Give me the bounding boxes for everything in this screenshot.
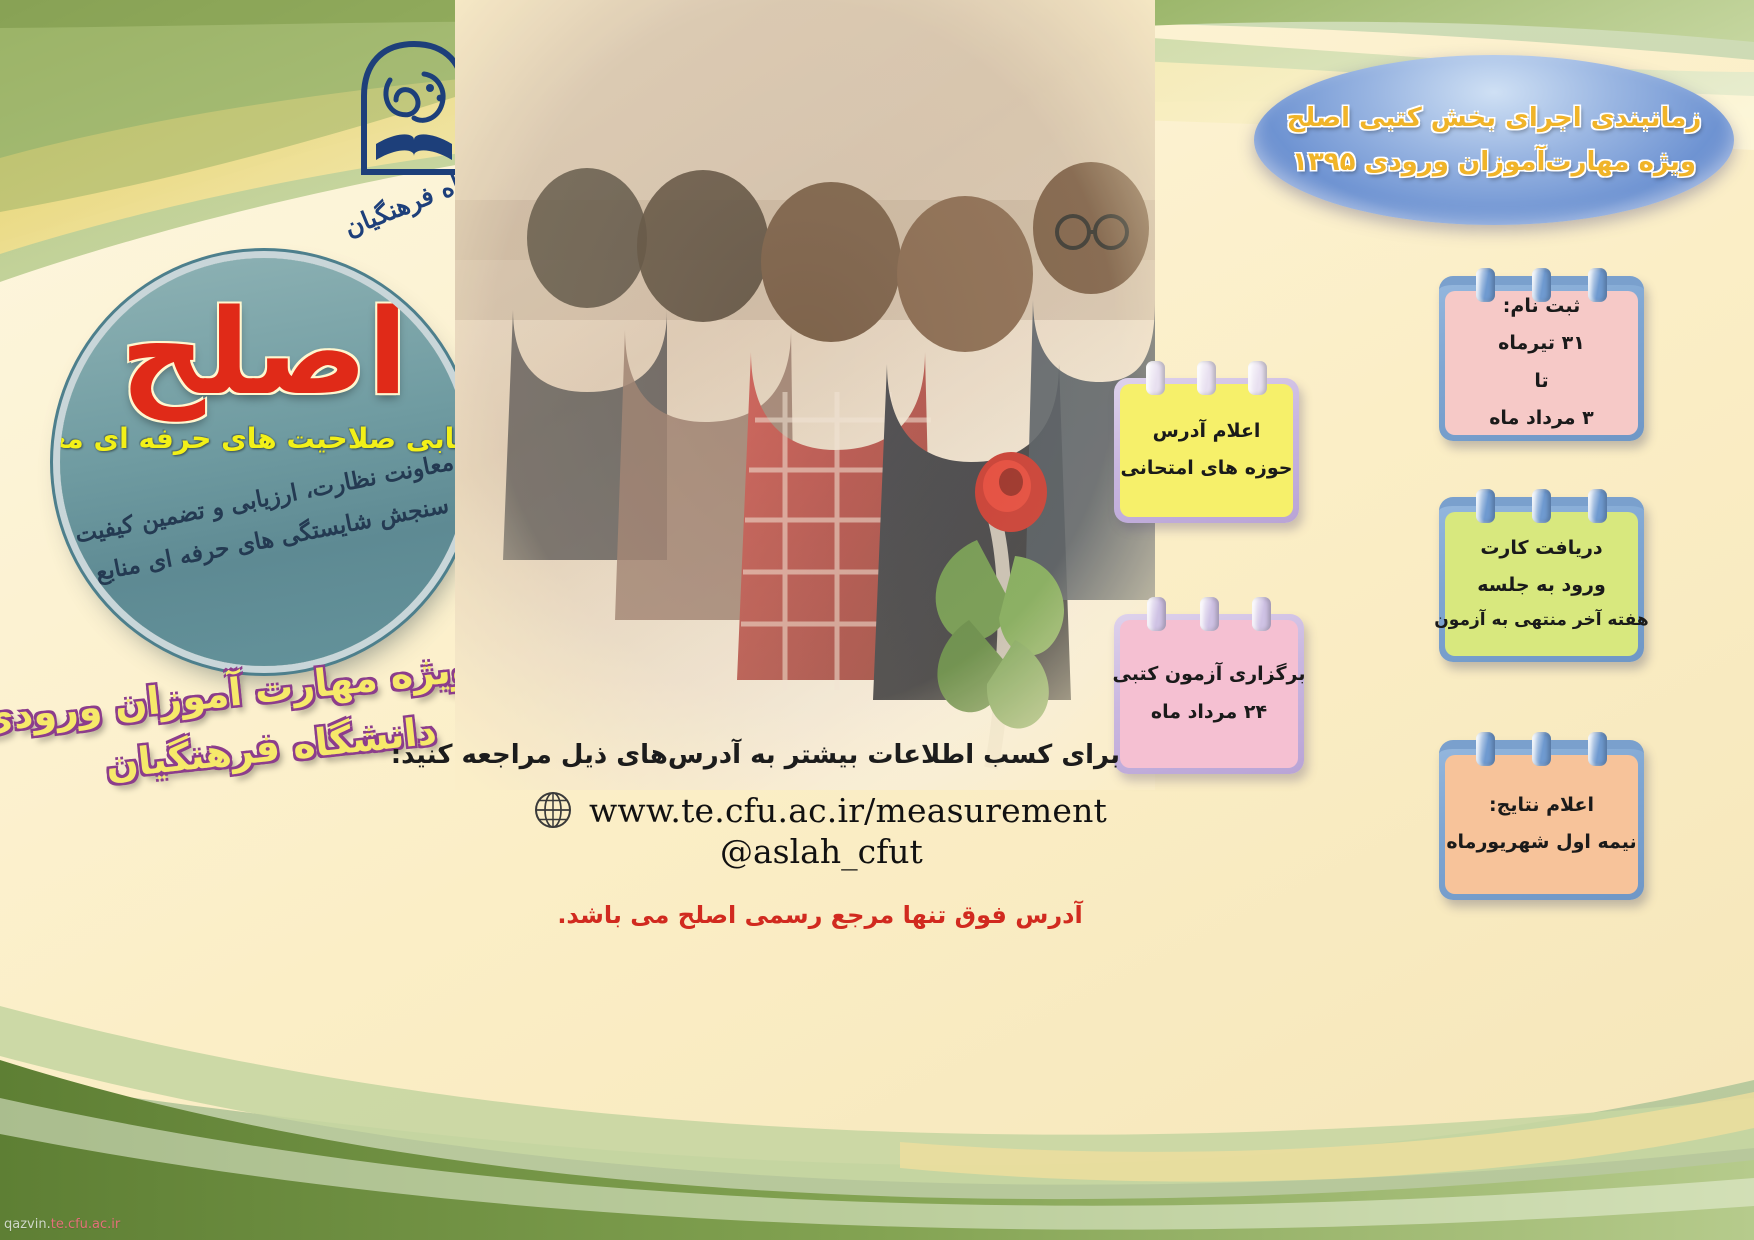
official-reference-note: آدرس فوق تنها مرجع رسمی اصلح می باشد. — [520, 901, 1120, 929]
calendar-line: دریافت کارت — [1480, 530, 1602, 567]
calendar-page: دریافت کارت ورود به جلسه هفته آخر منتهی … — [1445, 512, 1638, 656]
schedule-banner: زمانبندی اجرای بخش کتبی اصلح ویژه مهارت‌… — [1254, 55, 1734, 225]
site-watermark: qazvin.te.cfu.ac.ir — [4, 1217, 120, 1232]
calendar-line: هفته آخر منتهی به آزمون — [1434, 604, 1648, 637]
banner-line-2: ویژه مهارت‌آموزان ورودی ۱۳۹۵ — [1292, 147, 1696, 177]
calendar-line: تا — [1534, 363, 1548, 400]
calendar-line: اعلام نتایج: — [1489, 787, 1594, 824]
banner-line-1: زمانبندی اجرای بخش کتبی اصلح — [1287, 103, 1702, 133]
calendar-page: ثبت نام: ۳۱ تیرماه تا ۳ مرداد ماه — [1445, 291, 1638, 435]
calendar-line: ۳۱ تیرماه — [1498, 325, 1585, 362]
calendar-line: ثبت نام: — [1503, 288, 1580, 325]
website-url[interactable]: www.te.cfu.ac.ir/measurement — [589, 791, 1107, 830]
social-handle[interactable]: @aslah_cfut — [720, 832, 1120, 871]
calendar-line: ورود به جلسه — [1477, 567, 1606, 604]
watermark-prefix: qazvin. — [4, 1217, 51, 1232]
calendar-line: اعلام آدرس — [1153, 413, 1261, 450]
calendar-line: برگزاری آزمون کتبی — [1112, 656, 1305, 693]
calendar-line: نیمه اول شهریورماه — [1446, 824, 1636, 861]
contact-lead-text: برای کسب اطلاعات بیشتر به آدرس‌های ذیل م… — [520, 740, 1120, 770]
contact-url-row[interactable]: www.te.cfu.ac.ir/measurement — [520, 790, 1120, 830]
poster-canvas: دانشگاه فرهنگیان اصلح ارزشیابی صلاحیت ها… — [0, 0, 1754, 1240]
aslah-badge: اصلح ارزشیابی صلاحیت های حرفه ای معلمی م… — [60, 258, 468, 666]
calendar-line: ۳ مرداد ماه — [1489, 400, 1594, 437]
calendar-card-exam-venue-address: اعلام آدرس حوزه های امتحانی — [1114, 378, 1299, 523]
calendar-line: حوزه های امتحانی — [1121, 450, 1293, 487]
globe-icon — [533, 790, 573, 830]
calendar-card-entry-card: دریافت کارت ورود به جلسه هفته آخر منتهی … — [1439, 497, 1644, 662]
calendar-page: اعلام نتایج: نیمه اول شهریورماه — [1445, 755, 1638, 894]
aslah-title: اصلح — [120, 292, 408, 412]
students-photo — [455, 0, 1155, 790]
watermark-domain: te.cfu.ac.ir — [51, 1217, 121, 1232]
calendar-card-results: اعلام نتایج: نیمه اول شهریورماه — [1439, 740, 1644, 900]
calendar-line: ۲۴ مرداد ماه — [1151, 694, 1267, 731]
calendar-page: برگزاری آزمون کتبی ۲۴ مرداد ماه — [1120, 620, 1298, 768]
calendar-page: اعلام آدرس حوزه های امتحانی — [1120, 384, 1293, 517]
calendar-card-registration: ثبت نام: ۳۱ تیرماه تا ۳ مرداد ماه — [1439, 276, 1644, 441]
contact-block: برای کسب اطلاعات بیشتر به آدرس‌های ذیل م… — [520, 740, 1120, 929]
calendar-card-written-exam: برگزاری آزمون کتبی ۲۴ مرداد ماه — [1114, 614, 1304, 774]
